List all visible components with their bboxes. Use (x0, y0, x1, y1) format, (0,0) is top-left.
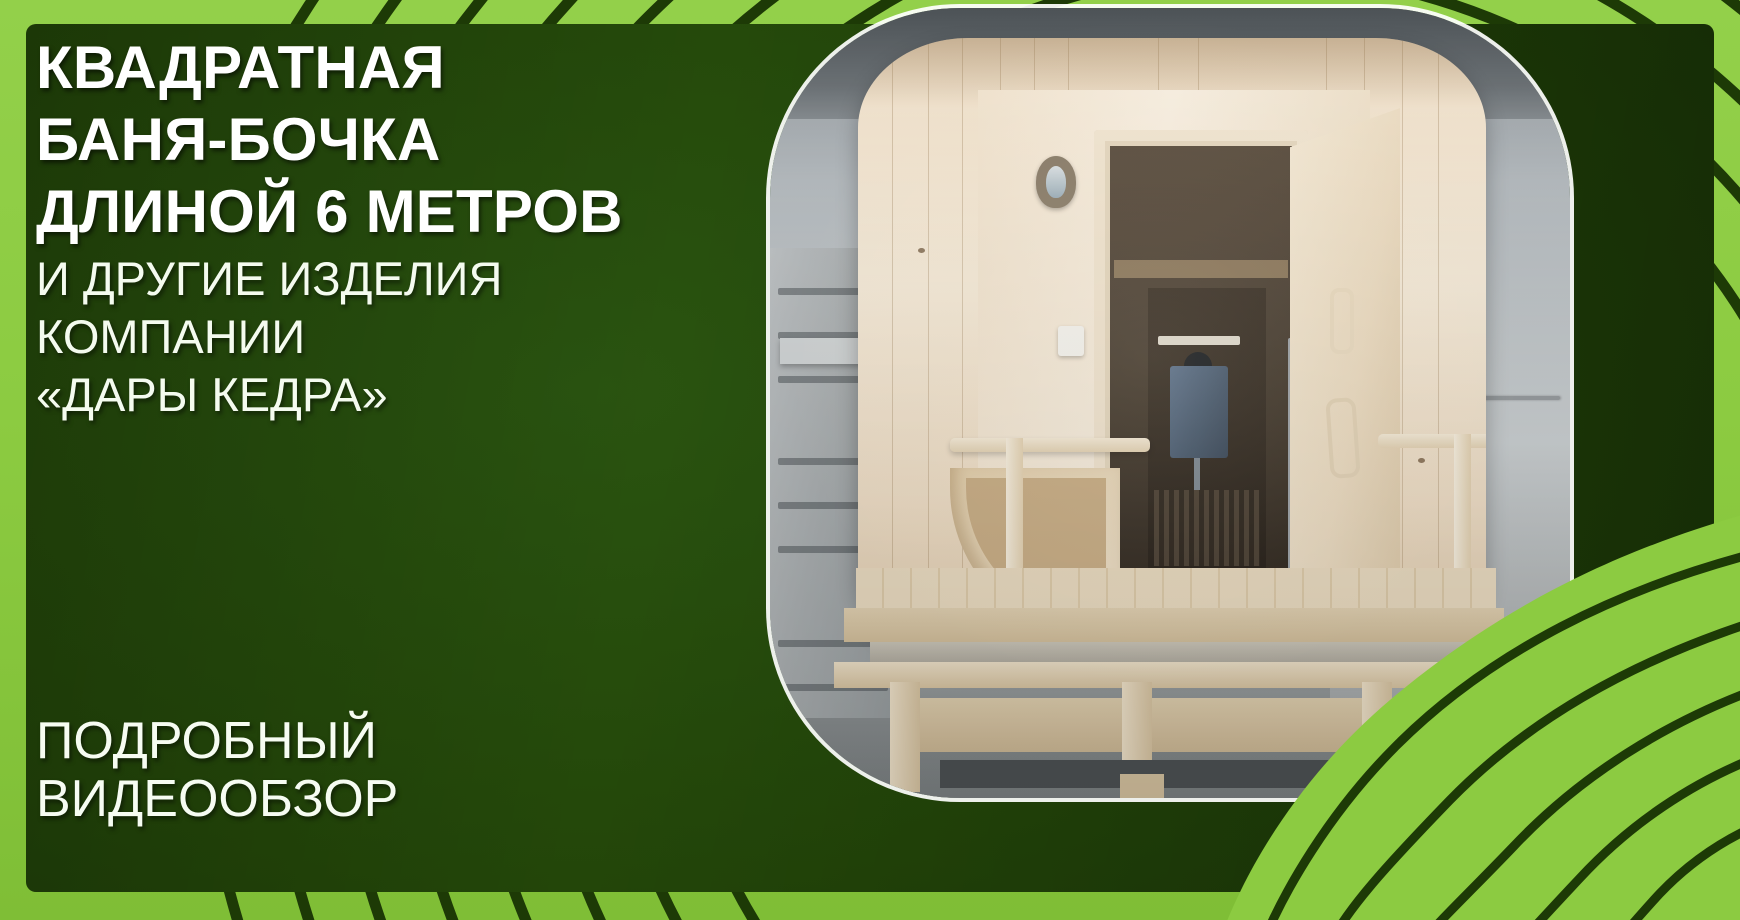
radiator-grille (1154, 490, 1260, 566)
headline-line-3: ДЛИНОЙ 6 МЕТРОВ (36, 182, 816, 242)
porch-deck (844, 608, 1504, 642)
door-handle-secondary (1325, 397, 1361, 479)
subtitle-line-1: И ДРУГИЕ ИЗДЕЛИЯ (36, 254, 816, 304)
subtitle-line-2: КОМПАНИИ (36, 312, 816, 362)
door-handle (1330, 288, 1354, 354)
water-heater-icon (1170, 366, 1228, 458)
barrel-sauna-body (858, 38, 1486, 658)
handrail-left (950, 438, 1150, 452)
inner-lintel (1114, 260, 1288, 278)
interior-light-strip (1158, 336, 1240, 345)
headline-line-1: КВАДРАТНАЯ (36, 38, 816, 98)
support-leg (890, 682, 920, 792)
footer-line-2: ВИДЕООБЗОР (36, 770, 398, 828)
headline-line-2: БАНЯ-БОЧКА (36, 110, 816, 170)
light-switch-icon (1058, 326, 1084, 356)
video-thumbnail: КВАДРАТНАЯ БАНЯ-БОЧКА ДЛИНОЙ 6 МЕТРОВ И … (0, 0, 1740, 920)
center-foot (1120, 774, 1164, 798)
heater-pipe (1194, 458, 1200, 492)
footer-block: ПОДРОБНЫЙ ВИДЕООБЗОР (36, 712, 398, 828)
subtitle-line-3: «ДАРЫ КЕДРА» (36, 370, 816, 420)
under-frame-shadow (940, 760, 1440, 788)
footer-line-1: ПОДРОБНЫЙ (36, 712, 398, 770)
base-beam (834, 662, 1534, 688)
sauna-photo (770, 8, 1570, 798)
headline-block: КВАДРАТНАЯ БАНЯ-БОЧКА ДЛИНОЙ 6 МЕТРОВ И … (36, 14, 816, 427)
lamp-glass (1046, 166, 1066, 198)
concrete-strip (870, 642, 1490, 662)
